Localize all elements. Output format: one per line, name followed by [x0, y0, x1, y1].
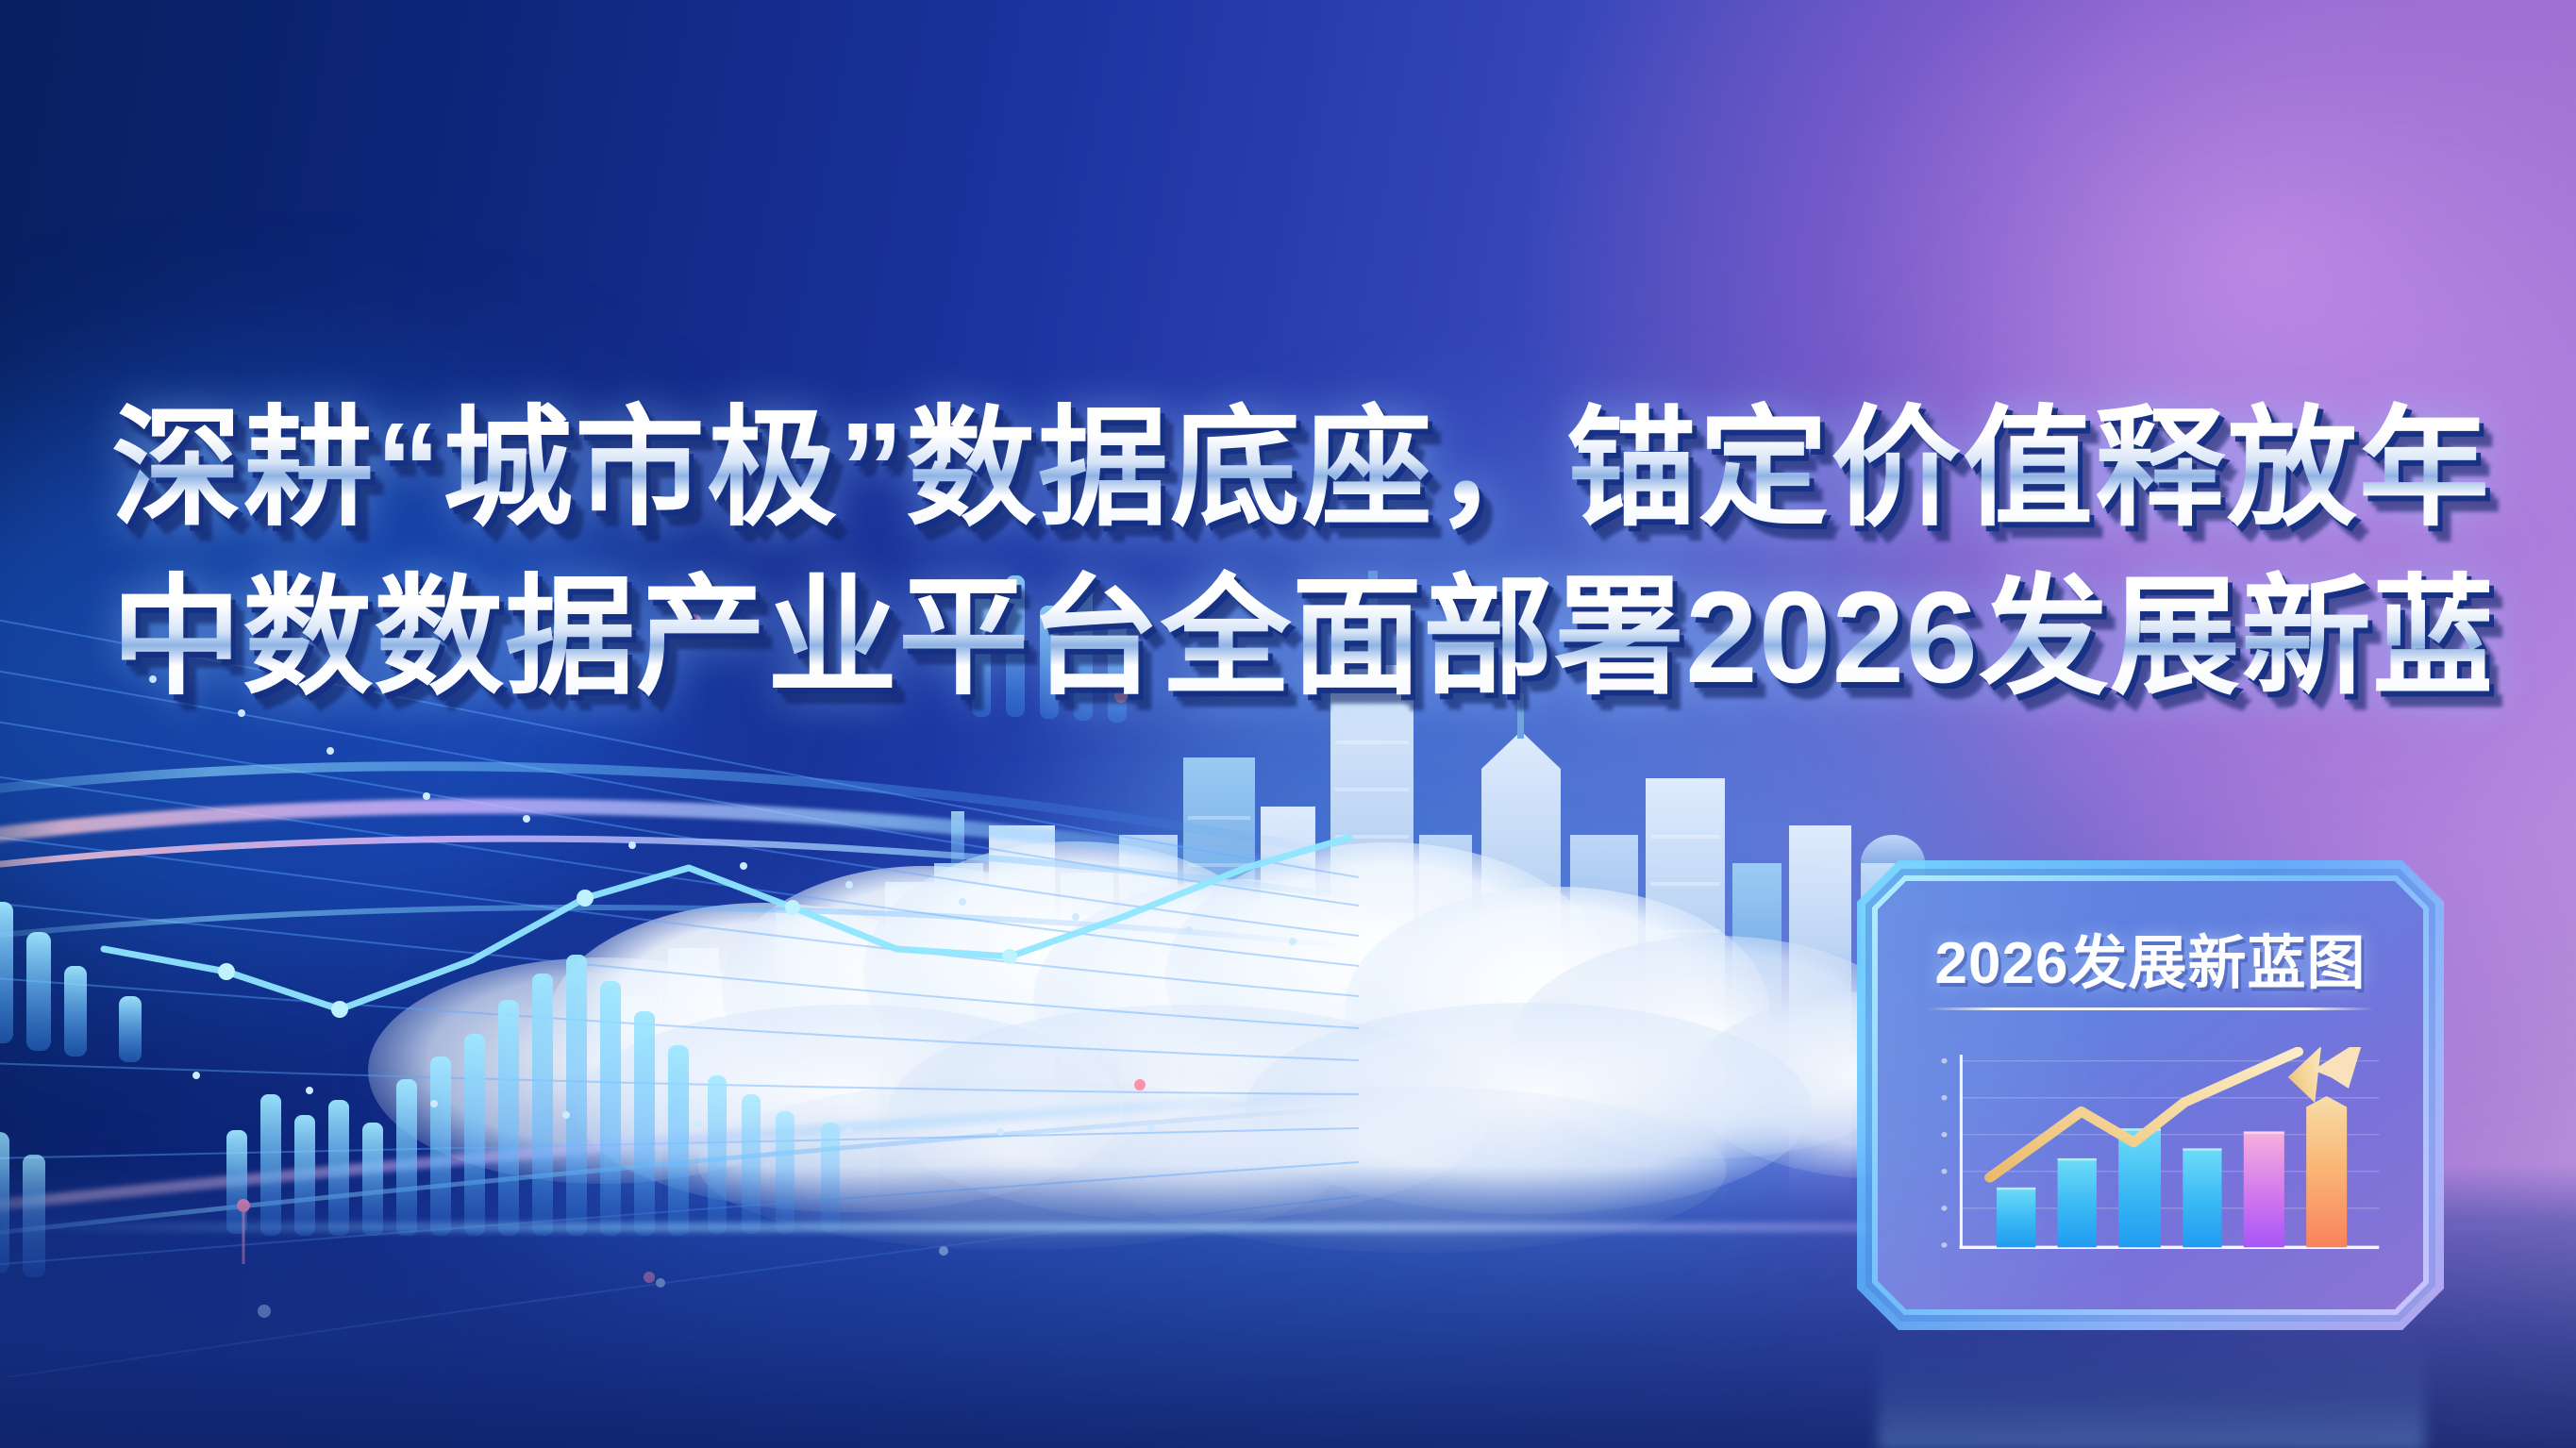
growth-bar-chart	[1915, 1047, 2389, 1277]
card-divider	[1927, 1007, 2374, 1010]
page-title: 深耕“城市极”数据底座，锚定价值释放年｜ 中数数据产业平台全面部署2026发展新…	[111, 385, 2489, 724]
card-title: 2026发展新蓝图	[1878, 915, 2423, 1000]
title-line-1: 深耕“城市极”数据底座，锚定价值释放年｜	[111, 385, 2489, 554]
card-face: 2026发展新蓝图	[1878, 881, 2423, 1309]
title-line-2: 中数数据产业平台全面部署2026发展新蓝图	[111, 554, 2489, 723]
card-reflection	[1878, 1328, 2425, 1448]
promo-banner: 深耕“城市极”数据底座，锚定价值释放年｜ 中数数据产业平台全面部署2026发展新…	[0, 0, 2576, 1448]
blueprint-card: 2026发展新蓝图	[1857, 860, 2444, 1330]
